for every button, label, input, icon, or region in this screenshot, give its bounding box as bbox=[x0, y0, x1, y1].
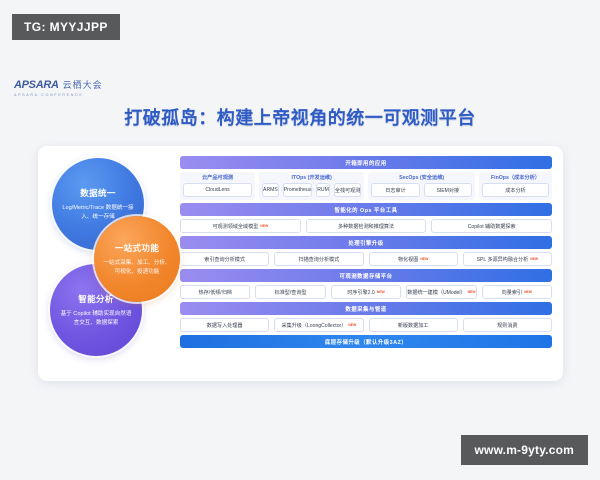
app-group-cloud-products: 云产品可观测 CloudLens bbox=[180, 172, 255, 200]
chip-full-stack-observability[interactable]: 全栈可观测 bbox=[334, 183, 361, 197]
new-badge: NEW bbox=[468, 290, 476, 294]
chip-copilot-data-exploration[interactable]: Copilot 辅助数据探索 bbox=[431, 219, 552, 233]
chip-hot-cold-archive[interactable]: 热存/低频/归档 bbox=[180, 285, 250, 299]
band-apps: 开箱即用的应用 bbox=[180, 156, 552, 169]
chip-label: 采集升级（LoongCollector） bbox=[282, 322, 347, 329]
chip-rule-consumption[interactable]: 规则消费 bbox=[463, 318, 552, 332]
app-group-chips: CloudLens bbox=[183, 183, 252, 197]
watermark-bottom-right: www.m-9yty.com bbox=[461, 435, 589, 465]
watermark-top-left: TG: MYYJJPP bbox=[12, 14, 120, 40]
slide-canvas: TG: MYYJJPP APSARA 云栖大会 APSARA CONFERENC… bbox=[0, 0, 600, 480]
chip-write-processor[interactable]: 数据写入处理器 bbox=[180, 318, 269, 332]
app-group-finops: FinOps（成本分析） 成本分析 bbox=[479, 172, 552, 200]
chip-label: 时序引擎2.0 bbox=[347, 289, 374, 296]
page-title: 打破孤岛：构建上帝视角的统一可观测平台 bbox=[0, 104, 600, 130]
new-badge: NEW bbox=[524, 290, 532, 294]
chip-label: SPL 多源异构融合分析 bbox=[477, 256, 529, 263]
apsara-logo: APSARA 云栖大会 APSARA CONFERENCE bbox=[14, 78, 103, 97]
chip-label: 多种数据检测和推理算法 bbox=[338, 223, 394, 230]
logo-subtitle: APSARA CONFERENCE bbox=[14, 93, 103, 97]
band-storage: 可观测数据存储平台 bbox=[180, 269, 552, 282]
app-group-label: 云产品可观测 bbox=[202, 174, 233, 181]
storage-chip-row: 热存/低频/归档 标准型/查询型 时序引擎2.0 NEW 数据统一建模（UMod… bbox=[180, 285, 552, 299]
logo-brand-cn: 云栖大会 bbox=[63, 78, 103, 91]
chip-label: 扫描查询分析模式 bbox=[298, 256, 339, 263]
app-group-chips: 日志审计 SIEM对接 bbox=[371, 183, 472, 197]
chip-siem-integration[interactable]: SIEM对接 bbox=[424, 183, 472, 197]
platform-stack: 开箱即用的应用 云产品可观测 CloudLens ITOps (开发运维) AR… bbox=[180, 156, 552, 374]
logo-brand-text: APSARA bbox=[14, 79, 59, 91]
new-badge: NEW bbox=[260, 224, 268, 228]
chip-new-data-processing[interactable]: 新版数据加工 bbox=[369, 318, 458, 332]
new-badge: NEW bbox=[420, 257, 428, 261]
band-ops-tools: 智能化的 Ops 平台工具 bbox=[180, 203, 552, 216]
chip-log-audit[interactable]: 日志审计 bbox=[371, 183, 419, 197]
chip-cloudlens[interactable]: CloudLens bbox=[183, 183, 252, 197]
chip-label: 新版数据加工 bbox=[398, 322, 429, 329]
chip-prometheus[interactable]: Prometheus bbox=[283, 183, 312, 197]
apps-group-row: 云产品可观测 CloudLens ITOps (开发运维) ARMS Prome… bbox=[180, 172, 552, 200]
chip-arms[interactable]: ARMS bbox=[262, 183, 279, 197]
chip-label: 热存/低频/归档 bbox=[199, 289, 232, 296]
chip-spl-federated-analysis[interactable]: SPL 多源异构融合分析 NEW bbox=[463, 252, 552, 266]
chip-label: 规则消费 bbox=[497, 322, 517, 329]
app-group-chips: ARMS Prometheus RUM 全栈可观测 bbox=[262, 183, 361, 197]
chip-label: 向量索引 bbox=[502, 289, 522, 296]
chip-loongcollector[interactable]: 采集升级（LoongCollector） NEW bbox=[274, 318, 363, 332]
app-group-itops: ITOps (开发运维) ARMS Prometheus RUM 全栈可观测 bbox=[259, 172, 364, 200]
venn-circle-title: 一站式功能 bbox=[115, 242, 160, 254]
chip-cost-analysis[interactable]: 成本分析 bbox=[482, 183, 549, 197]
chip-timeseries-engine[interactable]: 时序引擎2.0 NEW bbox=[331, 285, 401, 299]
app-group-label: SecOps (安全运维) bbox=[399, 174, 444, 181]
chip-label: 可观测领域全域模型 bbox=[212, 223, 258, 230]
chip-label: 标准型/查询型 bbox=[275, 289, 307, 296]
venn-circle-title: 数据统一 bbox=[80, 187, 116, 199]
chip-umodel[interactable]: 数据统一建模（UModel） NEW bbox=[406, 285, 476, 299]
logo-row: APSARA 云栖大会 bbox=[14, 78, 103, 91]
app-group-label: FinOps（成本分析） bbox=[491, 174, 540, 181]
chip-label: 索引查询分析模式 bbox=[204, 256, 245, 263]
chip-detection-algorithms[interactable]: 多种数据检测和推理算法 bbox=[306, 219, 427, 233]
pipeline-chip-row: 数据写入处理器 采集升级（LoongCollector） NEW 新版数据加工 … bbox=[180, 318, 552, 332]
chip-scan-query-mode[interactable]: 扫描查询分析模式 bbox=[274, 252, 363, 266]
chip-index-query-mode[interactable]: 索引查询分析模式 bbox=[180, 252, 269, 266]
app-group-secops: SecOps (安全运维) 日志审计 SIEM对接 bbox=[368, 172, 475, 200]
venn-circle-desc: 基于 Copilot 辅助实现自然语言交互、数据探索 bbox=[54, 310, 138, 327]
chip-observability-domain-model[interactable]: 可观测领域全域模型 NEW bbox=[180, 219, 301, 233]
new-badge: NEW bbox=[348, 323, 356, 327]
app-group-chips: 成本分析 bbox=[482, 183, 549, 197]
new-badge: NEW bbox=[377, 290, 385, 294]
venn-circle-one-stop: 一站式功能 一站式采集、加工、分析、可视化、投递功能 bbox=[94, 216, 180, 302]
new-badge: NEW bbox=[530, 257, 538, 261]
engine-chip-row: 索引查询分析模式 扫描查询分析模式 物化视图 NEW SPL 多源异构融合分析 … bbox=[180, 252, 552, 266]
chip-label: 物化视图 bbox=[398, 256, 418, 263]
venn-circle-desc: 一站式采集、加工、分析、可视化、投递功能 bbox=[98, 259, 176, 276]
diagram-card: 数据统一 Log/Metric/Trace 数据统一接入、统一存储 智能分析 基… bbox=[38, 146, 563, 381]
chip-vector-index[interactable]: 向量索引 NEW bbox=[482, 285, 552, 299]
band-pipeline: 数据采集与管道 bbox=[180, 302, 552, 315]
app-group-label: ITOps (开发运维) bbox=[292, 174, 332, 181]
band-foundation-storage: 底层存储升级（默认升级3AZ） bbox=[180, 335, 552, 348]
venn-diagram: 数据统一 Log/Metric/Trace 数据统一接入、统一存储 智能分析 基… bbox=[38, 146, 188, 381]
band-engine: 处理引擎升级 bbox=[180, 236, 552, 249]
chip-rum[interactable]: RUM bbox=[316, 183, 330, 197]
chip-materialized-view[interactable]: 物化视图 NEW bbox=[369, 252, 458, 266]
chip-label: Copilot 辅助数据探索 bbox=[468, 223, 516, 230]
venn-circle-title: 智能分析 bbox=[78, 293, 114, 305]
chip-label: 数据写入处理器 bbox=[207, 322, 243, 329]
chip-standard-query-type[interactable]: 标准型/查询型 bbox=[255, 285, 325, 299]
chip-label: 数据统一建模（UModel） bbox=[407, 289, 465, 296]
ops-tools-chip-row: 可观测领域全域模型 NEW 多种数据检测和推理算法 Copilot 辅助数据探索 bbox=[180, 219, 552, 233]
